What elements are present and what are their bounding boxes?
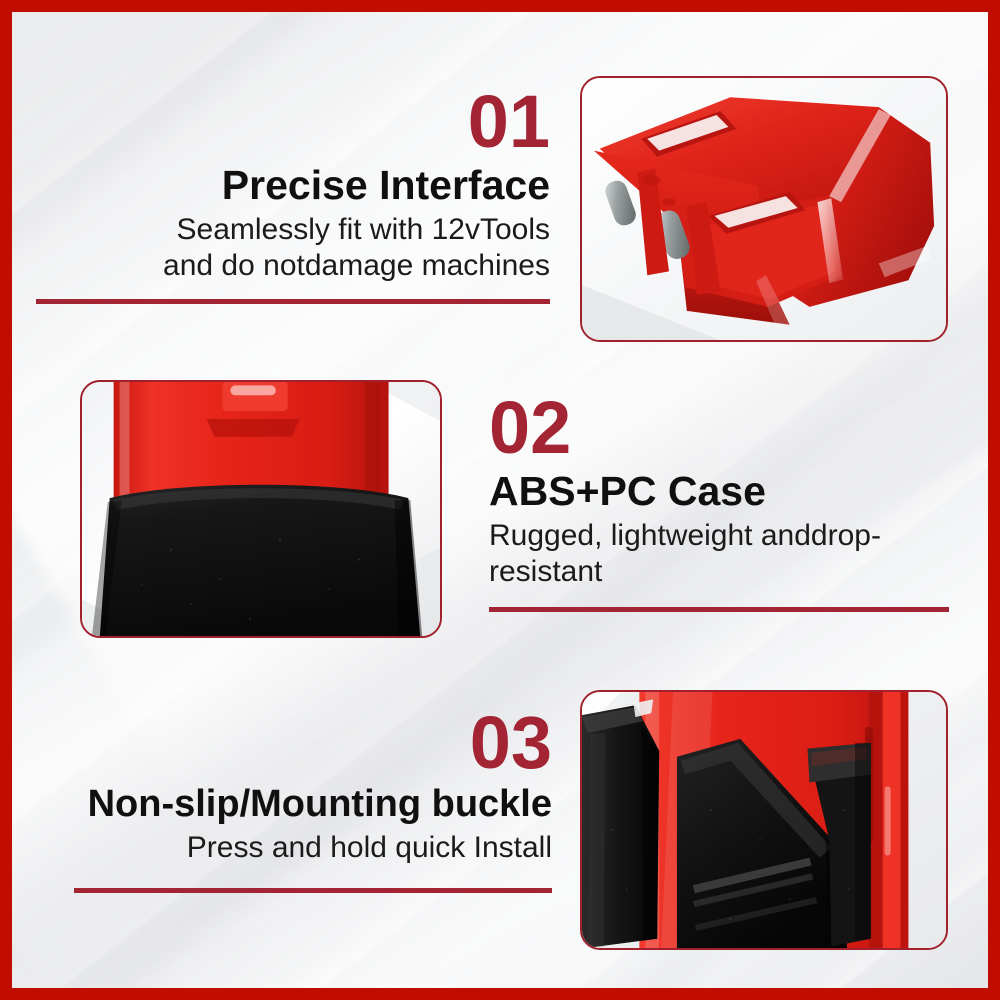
abs-pc-case-photo [80,380,442,638]
infographic-page: 01 Precise Interface Seamlessly fit with… [0,0,1000,1000]
feature-rule-03 [74,888,552,893]
feature-block-03: 03 Non-slip/Mounting buckle Press and ho… [74,707,552,893]
feature-description-01-line1: Seamlessly fit with 12vTools [36,212,550,249]
feature-rule-01 [36,299,550,304]
feature-description-02-line1: Rugged, lightweight anddrop- [489,518,949,555]
feature-description-01-line2: and do notdamage machines [36,248,550,285]
feature-number-03: 03 [74,707,552,780]
feature-heading-01: Precise Interface [36,163,550,207]
feature-heading-02: ABS+PC Case [489,469,949,513]
feature-block-01: 01 Precise Interface Seamlessly fit with… [36,86,550,304]
feature-heading-03: Non-slip/Mounting buckle [74,784,552,825]
feature-description-02-line2: resistant [489,554,949,591]
feature-block-02: 02 ABS+PC Case Rugged, lightweight anddr… [489,392,949,612]
feature-number-01: 01 [36,86,550,159]
mounting-buckle-photo [580,690,948,950]
content-canvas: 01 Precise Interface Seamlessly fit with… [12,12,988,988]
feature-number-02: 02 [489,392,949,465]
feature-rule-02 [489,607,949,612]
battery-interface-contacts-photo [580,76,948,342]
feature-description-03-line1: Press and hold quick Install [74,830,552,867]
